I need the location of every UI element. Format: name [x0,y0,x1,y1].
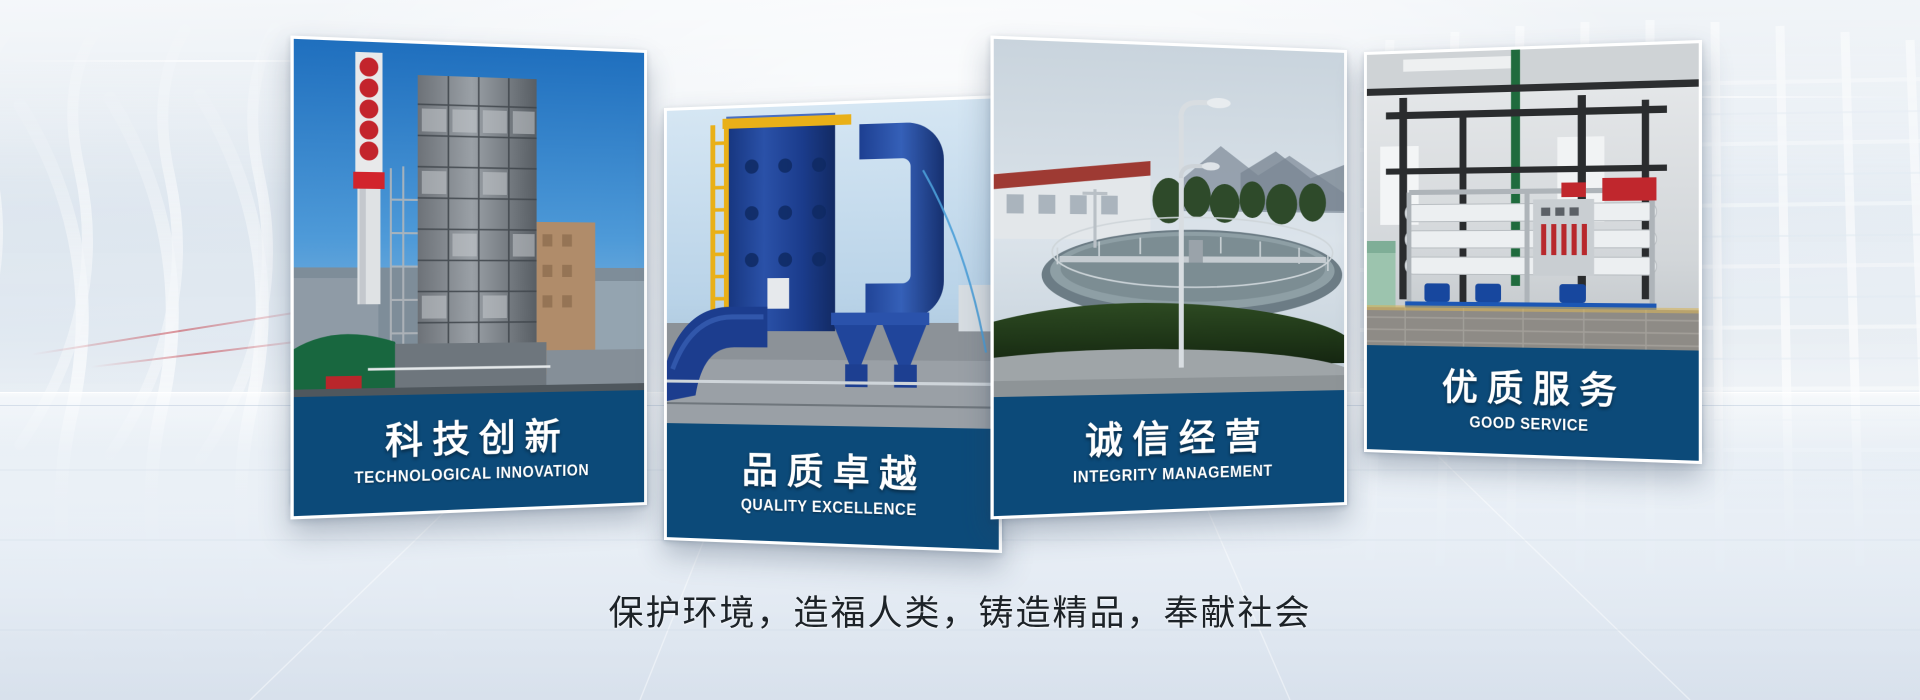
caption-quality-excellence: 品质卓越 QUALITY EXCELLENCE [667,423,999,550]
caption-technological-innovation: 科技创新 TECHNOLOGICAL INNOVATION [294,390,644,516]
caption-good-service: 优质服务 GOOD SERVICE [1367,345,1699,461]
caption-title-en: GOOD SERVICE [1469,414,1588,436]
photo-industrial-chimney [294,39,644,400]
caption-title-cn: 诚信经营 [1076,416,1270,465]
caption-integrity-management: 诚信经营 INTEGRITY MANAGEMENT [994,390,1344,516]
red-streak-2 [91,338,320,368]
panel-integrity-management[interactable]: 诚信经营 INTEGRITY MANAGEMENT [990,36,1347,520]
corporate-banner: 科技创新 TECHNOLOGICAL INNOVATION [0,0,1920,700]
photo-wastewater-treatment-plant [994,39,1344,400]
red-streak [32,307,329,356]
caption-title-cn: 科技创新 [376,416,570,465]
photo-blue-dust-collector [667,98,999,429]
caption-title-cn: 优质服务 [1433,367,1626,415]
banner-tagline: 保护环境，造福人类，铸造精品，奉献社会 [0,585,1920,636]
panel-good-service[interactable]: 优质服务 GOOD SERVICE [1364,40,1702,464]
panel-quality-excellence[interactable]: 品质卓越 QUALITY EXCELLENCE [664,95,1002,553]
panel-technological-innovation[interactable]: 科技创新 TECHNOLOGICAL INNOVATION [290,36,647,520]
caption-title-en: TECHNOLOGICAL INNOVATION [354,462,589,489]
caption-title-en: INTEGRITY MANAGEMENT [1073,462,1273,487]
caption-title-en: QUALITY EXCELLENCE [741,496,917,520]
photo-ro-water-treatment-skid [1367,43,1699,350]
caption-title-cn: 品质卓越 [733,450,926,499]
